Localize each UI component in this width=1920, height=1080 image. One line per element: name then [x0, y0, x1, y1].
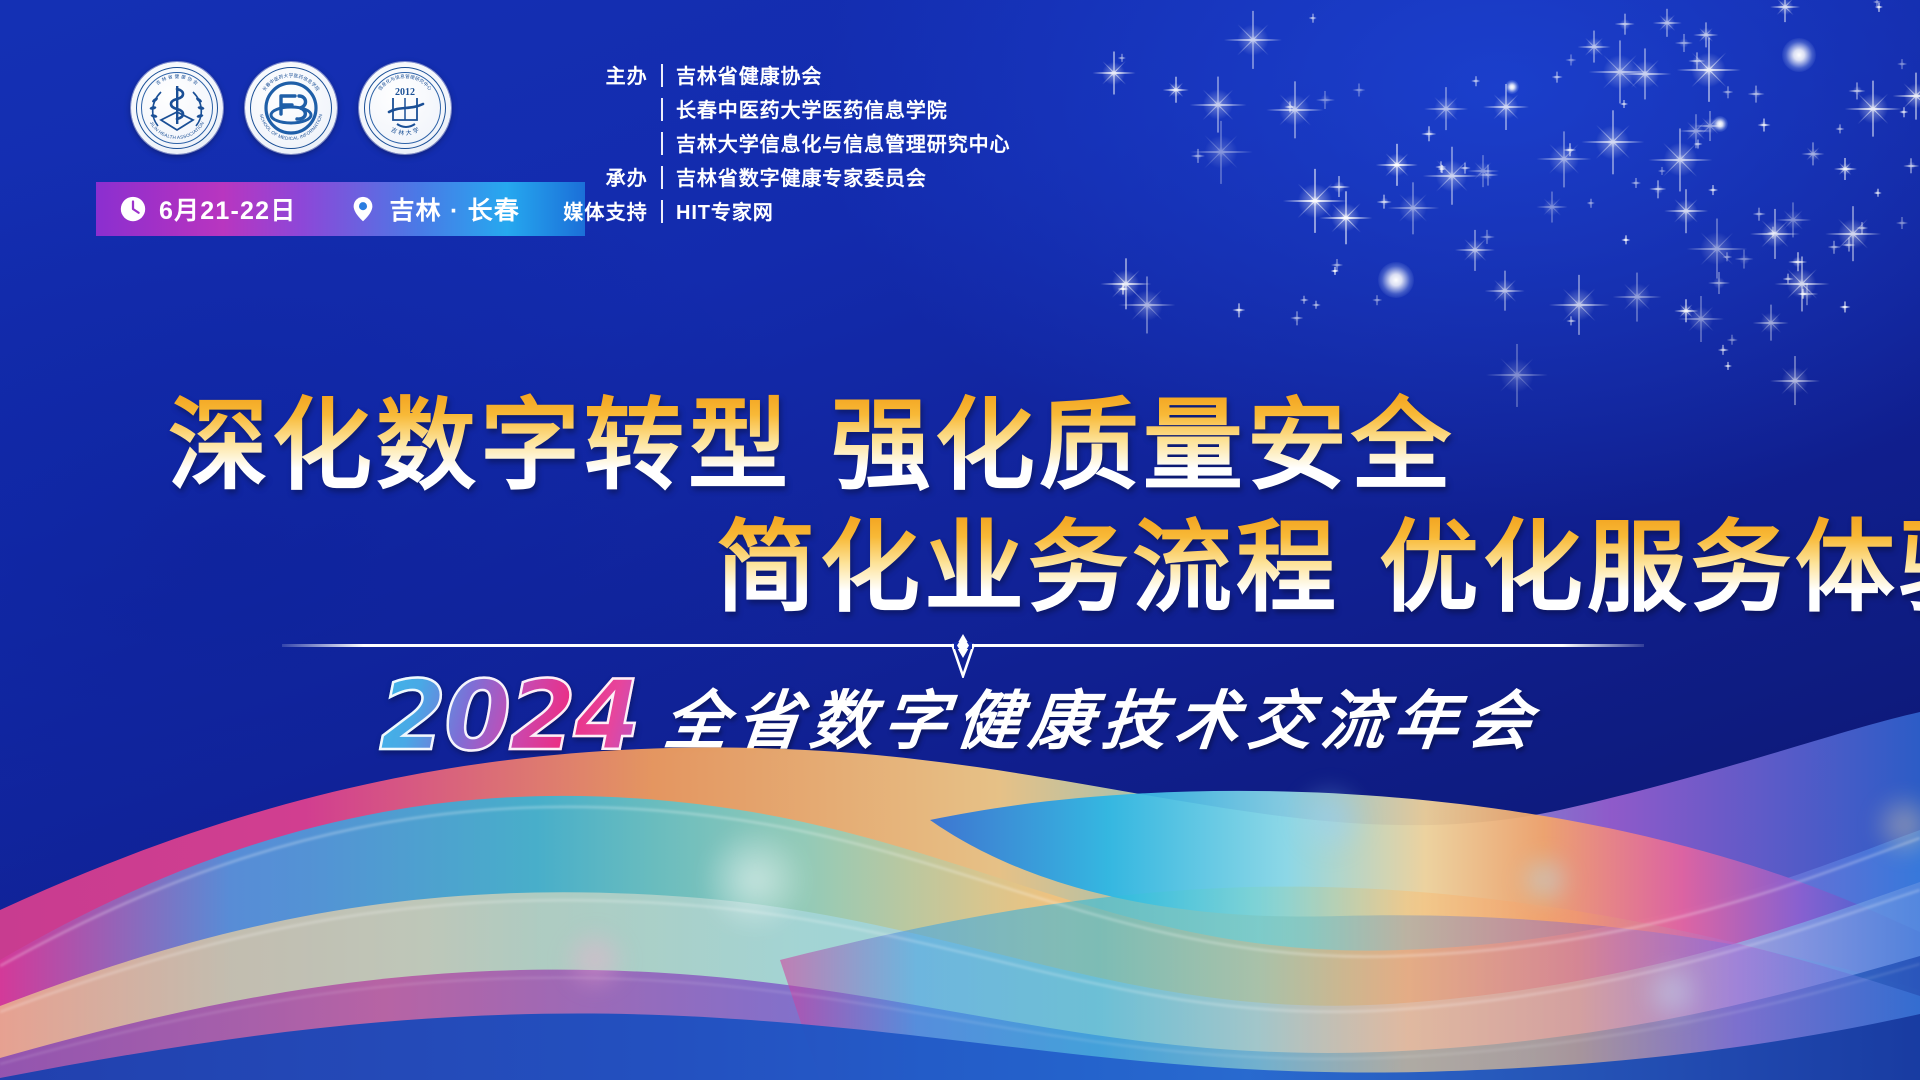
organizer-name: 吉林大学信息化与信息管理研究中心 — [676, 128, 1010, 157]
sparkle-star-icon — [1845, 80, 1902, 137]
sparkle-star-icon — [1653, 9, 1681, 37]
sparkle-star-icon — [1904, 158, 1919, 173]
sparkle-star-icon — [1162, 77, 1189, 104]
school-of-medical-information-logo: 长春中医药大学医药信息学院 SCHOOL OF MEDICAL INFORMAT… — [245, 62, 337, 154]
sparkle-star-icon — [1331, 259, 1343, 271]
sparkle-star-icon — [1620, 100, 1628, 108]
sparkle-star-icon — [1477, 164, 1498, 185]
sparkle-star-icon — [1190, 76, 1247, 133]
sparkle-star-icon — [1460, 163, 1471, 174]
sparkle-star-icon — [1753, 208, 1766, 221]
location-pin-icon — [348, 194, 378, 224]
organizer-divider — [661, 166, 663, 189]
sparkle-star-icon — [1798, 288, 1809, 299]
sparkle-star-icon — [1771, 0, 1801, 22]
location-badge: 吉林 · 长春 — [348, 191, 520, 227]
sparkle-star-icon — [1849, 82, 1866, 99]
organizer-row: 承办吉林省数字健康专家委员会 — [540, 162, 1010, 192]
sparkle-star-icon — [1331, 267, 1339, 275]
sparkle-star-icon — [1438, 165, 1446, 173]
sparkle-star-icon — [1686, 218, 1747, 279]
headline-line-1: 深化数字转型 强化质量安全 — [0, 390, 1920, 502]
date-badge: 6月21-22日 — [118, 191, 296, 227]
sparkle-star-icon — [1563, 143, 1577, 157]
sparkle-star-icon — [1688, 52, 1705, 69]
sparkle-star-icon — [1873, 0, 1881, 6]
sparkle-star-icon — [1834, 158, 1856, 180]
svg-text:吉 林 省 健 康 协 会: 吉 林 省 健 康 协 会 — [155, 73, 200, 87]
sparkle-star-icon — [1377, 194, 1392, 209]
sparkle-star-icon — [1693, 140, 1702, 149]
organizer-credits: 主办吉林省健康协会主办长春中医药大学医药信息学院主办吉林大学信息化与信息管理研究… — [540, 60, 1010, 230]
sparkle-star-icon — [1650, 181, 1667, 198]
sparkle-star-icon — [1802, 143, 1825, 166]
sparkle-star-icon — [1232, 304, 1245, 317]
organizer-divider — [661, 64, 663, 87]
sparkle-star-icon — [1536, 132, 1591, 187]
sparkle-star-icon — [1693, 22, 1718, 47]
sparkle-star-icon — [1621, 235, 1630, 244]
sparkle-star-icon — [1828, 241, 1840, 253]
sparkle-star-icon — [1839, 302, 1850, 313]
sparkle-star-icon — [1724, 362, 1732, 370]
sparkle-star-icon — [1620, 49, 1671, 100]
location-text: 吉林 · 长春 — [389, 191, 520, 227]
sparkle-star-icon — [1723, 252, 1732, 261]
sparkle-star-icon — [1119, 277, 1176, 334]
glow-dot-icon — [1782, 38, 1816, 72]
sparkle-star-icon — [1664, 190, 1708, 234]
sparkle-star-icon — [1316, 90, 1334, 108]
organizer-row: 主办吉林省健康协会 — [540, 60, 1010, 90]
sparkle-star-icon — [1675, 34, 1693, 52]
sparkle-star-icon — [1658, 167, 1666, 175]
sparkle-star-icon — [1118, 54, 1126, 62]
sparkle-star-icon — [1372, 296, 1382, 306]
sparkle-star-icon — [1421, 126, 1436, 141]
sparkle-star-icon — [1190, 121, 1252, 183]
sparkle-star-icon — [1224, 11, 1282, 69]
sparkle-star-icon — [1708, 272, 1730, 294]
organizer-role-label: 媒体支持 — [540, 196, 648, 225]
sparkle-star-icon — [1893, 73, 1920, 120]
organizer-divider — [661, 132, 663, 155]
organizer-row: 媒体支持HIT专家网 — [540, 196, 1010, 226]
sparkle-star-icon — [1873, 188, 1882, 197]
sparkle-star-icon — [1674, 299, 1697, 322]
sparkle-star-icon — [1290, 312, 1303, 325]
headline-line-2: 简化业务流程 优化服务体验 — [0, 512, 1920, 624]
sparkle-star-icon — [1722, 87, 1733, 98]
sparkle-star-icon — [1825, 206, 1881, 262]
sparkle-star-icon — [1586, 199, 1594, 207]
organizer-role-label: 主办 — [540, 60, 648, 89]
organizer-name: 吉林省数字健康专家委员会 — [676, 162, 927, 191]
sparkle-star-icon — [1567, 316, 1576, 325]
headline-block: 深化数字转型 强化质量安全 简化业务流程 优化服务体验 — [0, 390, 1920, 624]
sparkle-star-icon — [1100, 258, 1151, 309]
date-location-badge: 6月21-22日 吉林 · 长春 — [96, 182, 585, 236]
sparkle-star-icon — [1551, 72, 1562, 83]
sparkle-star-icon — [1480, 230, 1494, 244]
sparkle-star-icon — [1695, 111, 1725, 141]
date-text: 6月21-22日 — [159, 191, 296, 227]
sparkle-star-icon — [1788, 252, 1808, 272]
wave-graphic — [0, 660, 1920, 1080]
organizer-row: 主办长春中医药大学医药信息学院 — [540, 94, 1010, 124]
sparkle-star-icon — [1678, 296, 1724, 342]
sparkle-star-icon — [1631, 178, 1641, 188]
sparkle-star-icon — [1774, 256, 1829, 311]
sparkle-star-icon — [1118, 283, 1129, 294]
sparkle-star-icon — [1309, 14, 1318, 23]
sparkle-star-icon — [1483, 84, 1529, 130]
sparkle-star-icon — [1319, 191, 1372, 244]
organizer-divider — [661, 98, 663, 121]
sparkle-star-icon — [1896, 217, 1908, 229]
sparkle-star-icon — [1312, 301, 1321, 310]
sparkle-star-icon — [1484, 270, 1525, 311]
sparkle-star-icon — [1679, 115, 1713, 149]
sparkle-star-icon — [1899, 107, 1908, 116]
sparkle-star-icon — [1766, 226, 1779, 239]
sparkle-star-icon — [1283, 169, 1347, 233]
sparkle-star-icon — [1300, 296, 1308, 304]
sparkle-star-icon — [1856, 222, 1868, 234]
sparkle-star-icon — [1578, 30, 1611, 63]
sparkle-star-icon — [1588, 40, 1651, 103]
sparkle-star-icon — [1874, 3, 1882, 11]
sparkle-star-icon — [1566, 55, 1577, 66]
glow-dot-icon — [1378, 262, 1414, 298]
organizer-role-label: 承办 — [540, 162, 648, 191]
sparkle-star-icon — [1353, 84, 1366, 97]
glow-dot-icon — [1712, 116, 1728, 132]
sparkle-star-icon — [1776, 202, 1811, 237]
sparkle-star-icon — [1718, 344, 1728, 354]
sparkle-star-icon — [1328, 176, 1350, 198]
sparkle-star-icon — [1455, 230, 1495, 270]
sparkle-star-icon — [1649, 128, 1712, 191]
glow-dot-icon — [1505, 80, 1519, 94]
sparkle-star-icon — [1375, 144, 1417, 186]
sparkle-star-icon — [1435, 161, 1446, 172]
sparkle-star-icon — [1727, 334, 1738, 345]
organizer-row: 主办吉林大学信息化与信息管理研究中心 — [540, 128, 1010, 158]
sparkle-star-icon — [1735, 250, 1754, 269]
sparkle-star-icon — [1471, 76, 1481, 86]
sparkle-star-icon — [1266, 81, 1323, 138]
sparkle-star-icon — [1549, 274, 1609, 334]
organizer-logo-row: 吉 林 省 健 康 协 会 JILIN HEALTH ASSOCIATION — [131, 62, 451, 154]
sparkle-star-icon — [1796, 283, 1818, 305]
clock-icon — [118, 194, 148, 224]
sparkle-star-icon — [1752, 304, 1789, 341]
jilin-health-association-logo: 吉 林 省 健 康 协 会 JILIN HEALTH ASSOCIATION — [131, 62, 223, 154]
svg-text:2012: 2012 — [395, 87, 415, 98]
sparkle-star-icon — [1191, 149, 1205, 163]
sparkle-star-icon — [1748, 85, 1765, 102]
sparkle-star-icon — [1676, 38, 1740, 102]
organizer-name: 吉林省健康协会 — [676, 60, 822, 89]
informatization-research-center-logo: 信息化与信息管理研究中心 吉 林 大 学 2012 — [359, 62, 451, 154]
sparkle-star-icon — [1467, 155, 1499, 187]
sparkle-star-icon — [1897, 59, 1907, 69]
organizer-divider — [661, 200, 663, 223]
sparkle-star-icon — [1581, 111, 1644, 174]
organizer-name: 长春中医药大学医药信息学院 — [676, 94, 948, 123]
sparkle-star-icon — [1750, 209, 1800, 259]
sparkle-star-icon — [1424, 87, 1468, 131]
conference-poster: 吉 林 省 健 康 协 会 JILIN HEALTH ASSOCIATION — [0, 0, 1920, 1080]
sparkle-star-icon — [1615, 14, 1636, 35]
sparkle-star-icon — [1536, 192, 1567, 223]
sparkle-star-icon — [1841, 237, 1856, 252]
sparkle-star-icon — [1708, 185, 1718, 195]
sparkle-star-icon — [1284, 101, 1295, 112]
sparkle-star-icon — [1783, 273, 1794, 284]
sparkle-star-icon — [1613, 272, 1662, 321]
sparkle-star-icon — [1757, 118, 1770, 131]
sparkle-star-icon — [1422, 147, 1481, 206]
sparkle-star-icon — [1835, 124, 1844, 133]
organizer-name: HIT专家网 — [676, 196, 774, 225]
sparkle-star-icon — [1092, 52, 1135, 95]
sparkle-star-icon — [1387, 183, 1438, 234]
